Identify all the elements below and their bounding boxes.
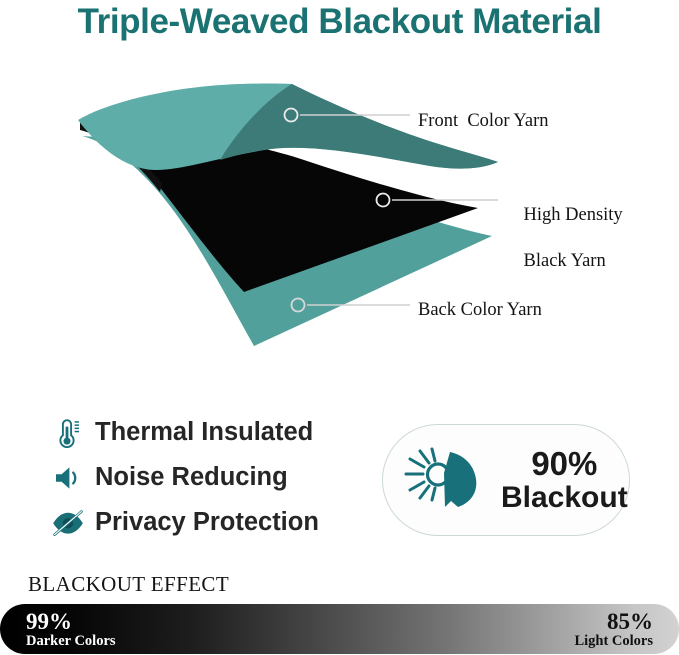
front-color-yarn-label: Front Color Yarn xyxy=(418,110,549,133)
fabric-diagram: Front Color Yarn High Density Black Yarn… xyxy=(0,78,679,353)
middle-label-line1: High Density xyxy=(524,205,623,225)
page-title: Triple-Weaved Blackout Material xyxy=(0,2,679,42)
blackout-effect-gradient-bar: 99% Darker Colors 85% Light Colors xyxy=(0,604,679,654)
feature-label: Privacy Protection xyxy=(95,508,319,537)
feature-label: Thermal Insulated xyxy=(95,418,313,447)
eye-slash-icon xyxy=(48,505,88,541)
thermometer-icon xyxy=(48,415,88,451)
badge-text: 90% Blackout xyxy=(501,447,628,513)
middle-label-line2: Black Yarn xyxy=(524,251,606,271)
feature-label: Noise Reducing xyxy=(95,463,288,492)
blackout-effect-heading: BLACKOUT EFFECT xyxy=(28,572,229,597)
blackout-percentage-badge: 90% Blackout xyxy=(382,424,630,536)
back-color-yarn-label: Back Color Yarn xyxy=(418,299,542,322)
light-colors-percent: 85% xyxy=(574,610,653,634)
darker-colors-stat: 99% Darker Colors xyxy=(26,610,116,650)
speaker-icon xyxy=(48,460,88,496)
high-density-black-yarn-label: High Density Black Yarn xyxy=(505,181,623,297)
feature-privacy-protection: Privacy Protection xyxy=(48,500,358,545)
darker-colors-percent: 99% xyxy=(26,610,116,634)
light-colors-stat: 85% Light Colors xyxy=(574,610,653,650)
feature-thermal-insulated: Thermal Insulated xyxy=(48,410,358,455)
feature-noise-reducing: Noise Reducing xyxy=(48,455,358,500)
light-colors-caption: Light Colors xyxy=(574,634,653,649)
badge-percent: 90% xyxy=(501,447,628,481)
features-list: Thermal Insulated Noise Reducing Privacy… xyxy=(48,410,358,545)
badge-word: Blackout xyxy=(501,482,628,513)
sun-blocked-icon xyxy=(401,440,493,520)
darker-colors-caption: Darker Colors xyxy=(26,634,116,649)
